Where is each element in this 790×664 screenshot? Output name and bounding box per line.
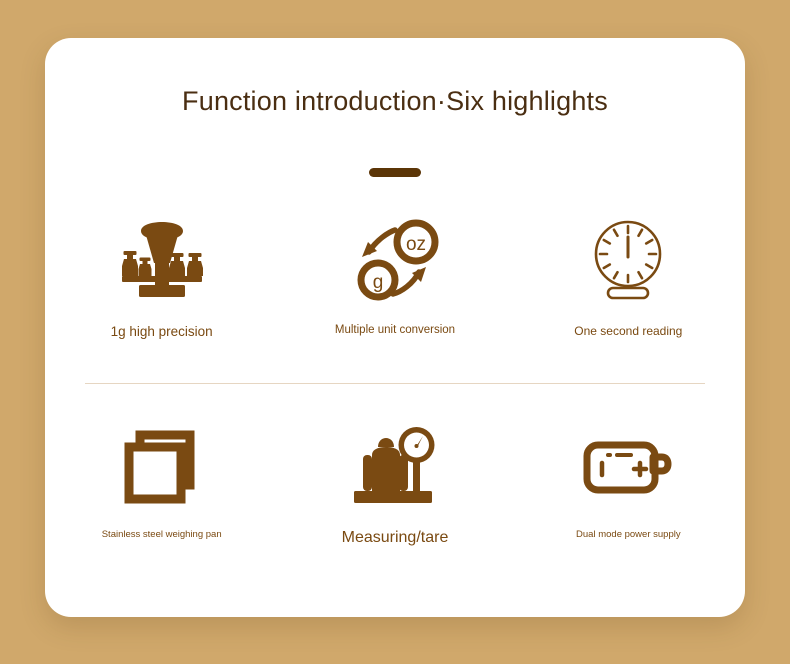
feature-card: Function introduction·Six highlights [45, 38, 745, 617]
svg-text:g: g [373, 272, 384, 293]
features-grid: 1g high precision oz g [45, 206, 745, 547]
svg-text:oz: oz [406, 234, 426, 255]
page-title: Function introduction·Six highlights [45, 86, 745, 117]
feature-label: Multiple unit conversion [335, 324, 455, 336]
stacked-square-pans-icon [121, 411, 203, 523]
feature-label: 1g high precision [111, 324, 213, 339]
feature-item-power-supply[interactable]: Dual mode power supply [512, 411, 745, 547]
feature-item-precision[interactable]: 1g high precision [45, 206, 278, 339]
feature-item-unit-conversion[interactable]: oz g Multiple unit conversion [278, 206, 511, 339]
feature-item-reading[interactable]: One second reading [512, 206, 745, 339]
feature-label: Dual mode power supply [576, 529, 681, 540]
clock-dial-icon [585, 206, 671, 318]
title-underline-dash [369, 168, 421, 177]
page-root: Function introduction·Six highlights [0, 0, 790, 664]
luggage-platform-scale-icon [350, 411, 440, 523]
feature-item-measuring-tare[interactable]: Measuring/tare [278, 411, 511, 547]
features-row-top: 1g high precision oz g [45, 206, 745, 339]
feature-item-weighing-pan[interactable]: Stainless steel weighing pan [45, 411, 278, 547]
unit-conversion-icon: oz g [349, 206, 441, 318]
battery-icon [577, 411, 679, 523]
feature-label: Measuring/tare [342, 529, 449, 547]
feature-label: One second reading [574, 324, 682, 338]
balance-scale-weights-icon [110, 206, 214, 318]
features-row-bottom: Stainless steel weighing pan [45, 411, 745, 547]
feature-label: Stainless steel weighing pan [102, 529, 222, 540]
